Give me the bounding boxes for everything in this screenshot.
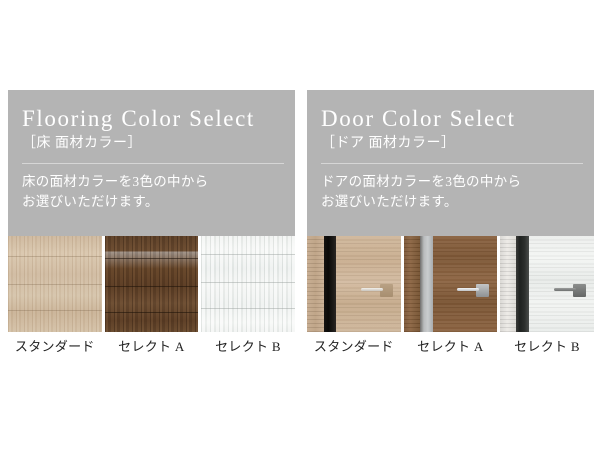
door-accent-stripe xyxy=(324,236,336,332)
wood-texture-white-wash xyxy=(201,236,295,332)
door-frame-jamb xyxy=(500,236,516,332)
door-select-b-thumbnail[interactable] xyxy=(500,236,594,332)
door-image-walnut xyxy=(404,236,498,332)
flooring-title-jp: ［床 面材カラー］ xyxy=(22,136,281,153)
door-title-en: Door Color Select xyxy=(321,106,580,131)
door-standard-label: スタンダード xyxy=(307,336,401,355)
plank-seams xyxy=(8,236,102,332)
flooring-select-a-label: セレクト A xyxy=(105,336,199,355)
door-swatch-standard[interactable]: スタンダード xyxy=(307,236,401,355)
plank-seams xyxy=(105,236,199,332)
door-description: ドアの面材カラーを3色の中から お選びいただけます。 xyxy=(321,172,580,211)
flooring-header-divider xyxy=(22,163,284,164)
door-swatch-row: スタンダード セレクト A xyxy=(307,236,594,355)
door-accent-stripe xyxy=(420,236,433,332)
door-frame-jamb xyxy=(404,236,420,332)
wood-texture-dark-walnut xyxy=(105,236,199,332)
flooring-swatch-standard[interactable]: スタンダード xyxy=(8,236,102,355)
door-select-a-label: セレクト A xyxy=(404,336,498,355)
flooring-standard-thumbnail[interactable] xyxy=(8,236,102,332)
flooring-title-en: Flooring Color Select xyxy=(22,106,281,131)
flooring-select-b-label: セレクト B xyxy=(201,336,295,355)
door-title-jp: ［ドア 面材カラー］ xyxy=(321,136,580,153)
flooring-panel-header: Flooring Color Select ［床 面材カラー］ 床の面材カラーを… xyxy=(8,90,295,236)
flooring-select-b-thumbnail[interactable] xyxy=(201,236,295,332)
door-header-divider xyxy=(321,163,583,164)
flooring-description-line1: 床の面材カラーを3色の中から xyxy=(22,172,281,192)
door-frame-jamb xyxy=(307,236,324,332)
plank-seams xyxy=(201,236,295,332)
door-select-a-thumbnail[interactable] xyxy=(404,236,498,332)
door-description-line2: お選びいただけます。 xyxy=(321,192,580,212)
flooring-description-line2: お選びいただけます。 xyxy=(22,192,281,212)
flooring-swatch-select-a[interactable]: セレクト A xyxy=(105,236,199,355)
door-swatch-select-b[interactable]: セレクト B xyxy=(500,236,594,355)
door-accent-stripe xyxy=(516,236,529,332)
handle-lever xyxy=(554,288,576,291)
door-color-panel: Door Color Select ［ドア 面材カラー］ ドアの面材カラーを3色… xyxy=(307,90,594,355)
door-description-line1: ドアの面材カラーを3色の中から xyxy=(321,172,580,192)
flooring-standard-label: スタンダード xyxy=(8,336,102,355)
handle-lever xyxy=(361,288,383,291)
door-image-light-oak xyxy=(307,236,401,332)
door-panel-header: Door Color Select ［ドア 面材カラー］ ドアの面材カラーを3色… xyxy=(307,90,594,236)
flooring-swatch-row: スタンダード セレクト A xyxy=(8,236,295,355)
page-canvas: Flooring Color Select ［床 面材カラー］ 床の面材カラーを… xyxy=(0,0,600,449)
flooring-swatch-select-b[interactable]: セレクト B xyxy=(201,236,295,355)
flooring-color-panel: Flooring Color Select ［床 面材カラー］ 床の面材カラーを… xyxy=(8,90,295,355)
wood-texture-light-oak xyxy=(8,236,102,332)
flooring-select-a-thumbnail[interactable] xyxy=(105,236,199,332)
door-standard-thumbnail[interactable] xyxy=(307,236,401,332)
handle-lever xyxy=(457,288,479,291)
flooring-description: 床の面材カラーを3色の中から お選びいただけます。 xyxy=(22,172,281,211)
door-select-b-label: セレクト B xyxy=(500,336,594,355)
door-image-white-wash xyxy=(500,236,594,332)
door-swatch-select-a[interactable]: セレクト A xyxy=(404,236,498,355)
